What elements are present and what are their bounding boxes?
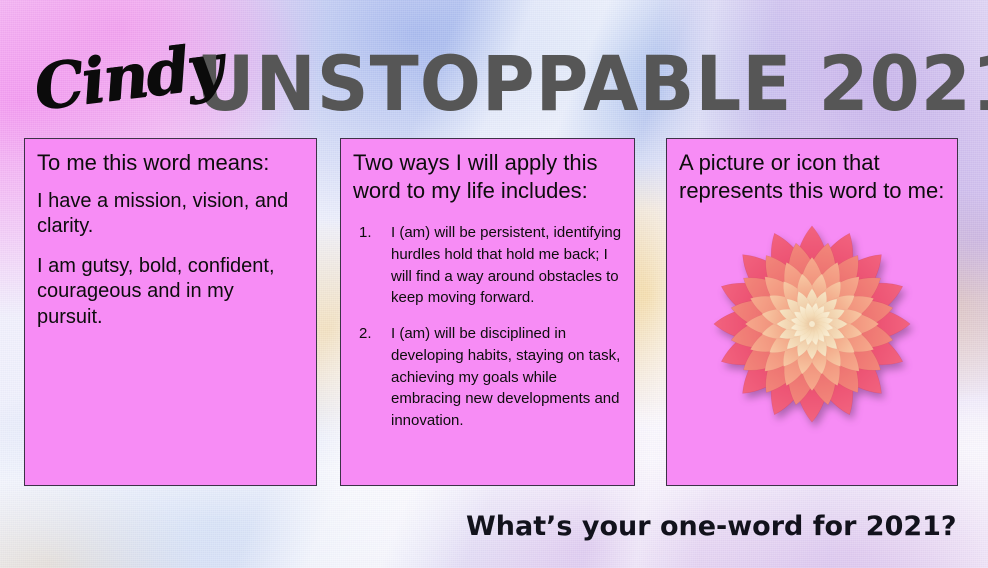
card-3-heading: A picture or icon that represents this w… <box>679 149 945 204</box>
list-item: I (am) will be persistent, identifying h… <box>353 222 622 309</box>
card-1-paragraph-1: I have a mission, vision, and clarity. <box>37 189 304 240</box>
page-title: UNSTOPPABLE 2021 <box>196 46 988 122</box>
card-application-ways: Two ways I will apply this word to my li… <box>340 138 635 486</box>
footer-question: What’s your one-word for 2021? <box>466 513 957 540</box>
card-representative-image: A picture or icon that represents this w… <box>666 138 958 486</box>
card-2-heading: Two ways I will apply this word to my li… <box>353 149 622 204</box>
flower-image-container <box>704 216 920 432</box>
slide-canvas: Cindy UNSTOPPABLE 2021 To me this word m… <box>0 0 988 568</box>
flower-center <box>809 321 815 327</box>
card-2-numbered-list: I (am) will be persistent, identifying h… <box>353 222 622 432</box>
dahlia-flower-icon <box>704 216 920 432</box>
list-item: I (am) will be disciplined in developing… <box>353 323 622 432</box>
card-word-meaning: To me this word means: I have a mission,… <box>24 138 317 486</box>
card-1-paragraph-2: I am gutsy, bold, confident, courageous … <box>37 254 304 331</box>
card-1-heading: To me this word means: <box>37 149 304 177</box>
